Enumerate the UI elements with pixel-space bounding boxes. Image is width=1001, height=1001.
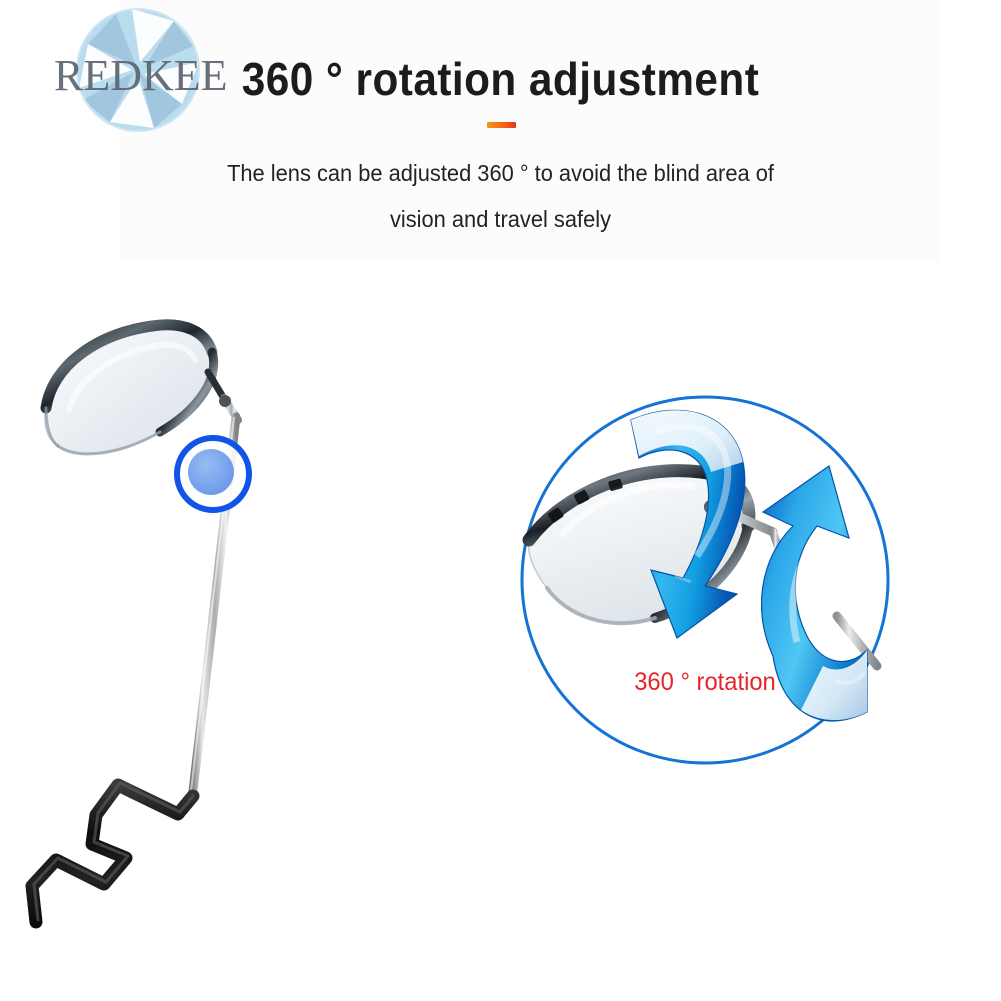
inset-caption: 360 ° rotation bbox=[515, 668, 895, 697]
mirror-lens bbox=[45, 325, 214, 454]
subtitle-line-2: vision and travel safely bbox=[25, 196, 976, 242]
rotation-diagram bbox=[505, 380, 905, 780]
product-photo bbox=[0, 280, 540, 960]
product-feature-image: REDKEE 360 ° rotation adjustment The len… bbox=[0, 0, 1001, 1001]
page-title: 360 ° rotation adjustment bbox=[40, 52, 961, 106]
subtitle-line-1: The lens can be adjusted 360 ° to avoid … bbox=[25, 150, 976, 196]
pivot-joint bbox=[208, 372, 238, 420]
rotation-inset-figure bbox=[505, 380, 905, 780]
page-subtitle: The lens can be adjusted 360 ° to avoid … bbox=[25, 150, 976, 242]
mirror-product-illustration bbox=[0, 280, 540, 960]
rotation-highlight-marker bbox=[177, 438, 249, 510]
title-divider bbox=[487, 122, 516, 128]
